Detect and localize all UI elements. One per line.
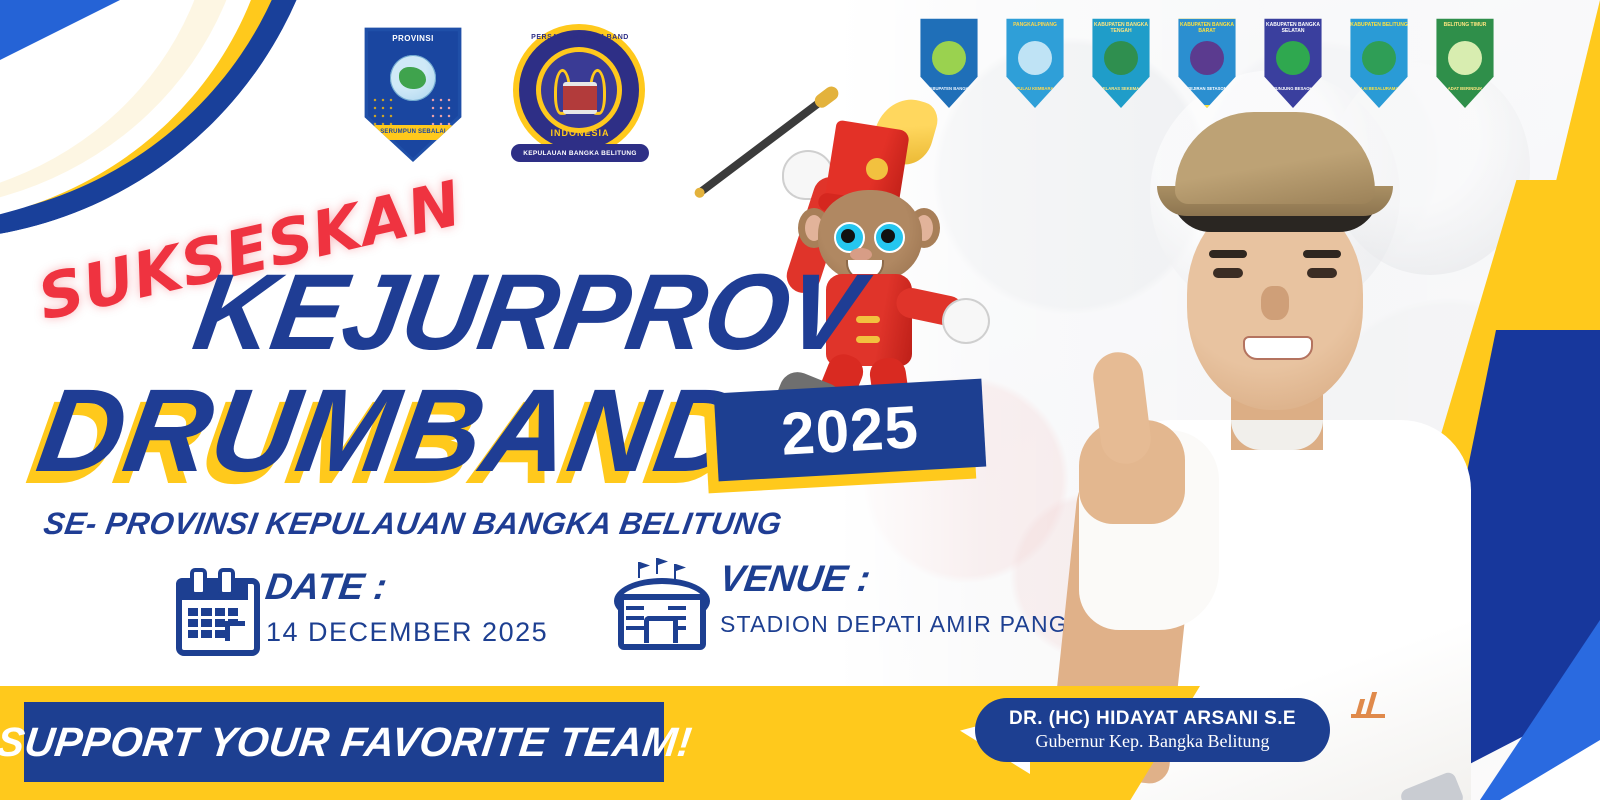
year-badge-text: 2025	[779, 392, 920, 469]
mascot-frog-button-1	[856, 316, 880, 323]
title-kejurprov: KEJURPROV	[187, 258, 867, 366]
pdbi-ribbon: KEPULAUAN BANGKA BELITUNG	[511, 144, 649, 162]
year-badge: 2025	[714, 379, 986, 482]
date-text-group: DATE : 14 DECEMBER 2025	[266, 568, 548, 648]
date-label: DATE :	[263, 568, 550, 605]
logo-province-bangka-belitung: PROVINSI SERUMPUN SEBALAI	[358, 22, 468, 162]
governor-smile	[1243, 336, 1313, 360]
stadium-bar-1	[626, 606, 644, 610]
regency-emblem	[1190, 41, 1224, 75]
regency-top-label: KABUPATEN BANGKA BARAT	[1173, 23, 1241, 35]
date-value: 14 DECEMBER 2025	[266, 617, 548, 648]
title-drumband: DRUMBAND	[31, 372, 753, 490]
official-title: Gubernur Kep. Bangka Belitung	[1036, 731, 1270, 752]
mascot-frog-button-2	[856, 336, 880, 343]
stadium-flag-center	[656, 558, 658, 574]
calendar-ring-left	[190, 568, 207, 596]
governor-eye-left	[1213, 268, 1243, 278]
cta-banner: SUPPORT YOUR FAVORITE TEAM!	[24, 702, 664, 782]
mascot-plume-ball	[866, 158, 888, 180]
calendar-header-bar	[176, 578, 248, 600]
calendar-fold-corner	[225, 621, 245, 641]
regency-emblem	[1448, 41, 1482, 75]
mascot-eye-right	[874, 222, 905, 253]
stadium-bar-4	[668, 606, 686, 610]
regency-emblem	[1104, 41, 1138, 75]
province-top-label: PROVINSI	[358, 34, 468, 43]
title-drumband-wrapper: DRUMBAND DRUMBAND	[40, 372, 743, 490]
stadium-icon	[608, 560, 704, 640]
regency-top-label: BELITUNG TIMUR	[1431, 23, 1499, 29]
regency-emblem	[1018, 41, 1052, 75]
stadium-flag-left	[638, 562, 640, 578]
regency-top-label: KABUPATEN BANGKA TENGAH	[1087, 23, 1155, 35]
cta-text: SUPPORT YOUR FAVORITE TEAM!	[0, 719, 694, 766]
governor-brow-right	[1303, 250, 1341, 258]
governor-nose	[1261, 286, 1289, 320]
shirt-logo-icon	[1351, 694, 1385, 718]
wreath-left-icon	[371, 96, 397, 126]
regency-top-label: PANGKALPINANG	[1001, 23, 1069, 29]
governor-eye-right	[1307, 268, 1337, 278]
pdbi-arc-top-text: PERSATUAN DRUM BAND	[505, 34, 655, 41]
wreath-right-icon	[429, 96, 455, 126]
regency-top-label: KABUPATEN BANGKA SELATAN	[1259, 23, 1327, 35]
province-shield: PROVINSI SERUMPUN SEBALAI	[358, 22, 468, 162]
info-date-block: DATE : 14 DECEMBER 2025	[176, 568, 548, 648]
regency-emblem	[1362, 41, 1396, 75]
governor-cap	[1175, 112, 1375, 204]
logo-pdbi: PERSATUAN DRUM BAND INDONESIA KEPULAUAN …	[505, 20, 655, 170]
pdbi-ribbon-text: KEPULAUAN BANGKA BELITUNG	[523, 150, 636, 157]
stadium-bar-2	[626, 616, 644, 620]
province-motto-ribbon: SERUMPUN SEBALAI	[373, 125, 452, 140]
province-motto-text: SERUMPUN SEBALAI	[380, 129, 446, 135]
snare-drum-icon	[563, 82, 597, 114]
regency-top-label: KABUPATEN BELITUNG	[1345, 23, 1413, 29]
subtitle-province: SE- PROVINSI KEPULAUAN BANGKA BELITUNG	[41, 506, 784, 542]
official-name: DR. (HC) HIDAYAT ARSANI S.E	[1009, 708, 1296, 730]
governor-brow-left	[1209, 250, 1247, 258]
event-banner: PROVINSI SERUMPUN SEBALAI PERSATUAN DRUM…	[0, 0, 1600, 800]
official-nameplate: DR. (HC) HIDAYAT ARSANI S.E Gubernur Kep…	[975, 698, 1330, 762]
calendar-ring-right	[218, 568, 235, 596]
regency-emblem	[1276, 41, 1310, 75]
calendar-icon	[176, 568, 248, 644]
mascot-fist-side	[942, 298, 990, 344]
pdbi-arc-bottom-text: INDONESIA	[505, 128, 655, 138]
stadium-entrance	[644, 616, 678, 643]
stadium-bar-3	[626, 626, 644, 630]
province-globe-icon	[390, 55, 436, 101]
stadium-flag-right	[674, 564, 676, 580]
